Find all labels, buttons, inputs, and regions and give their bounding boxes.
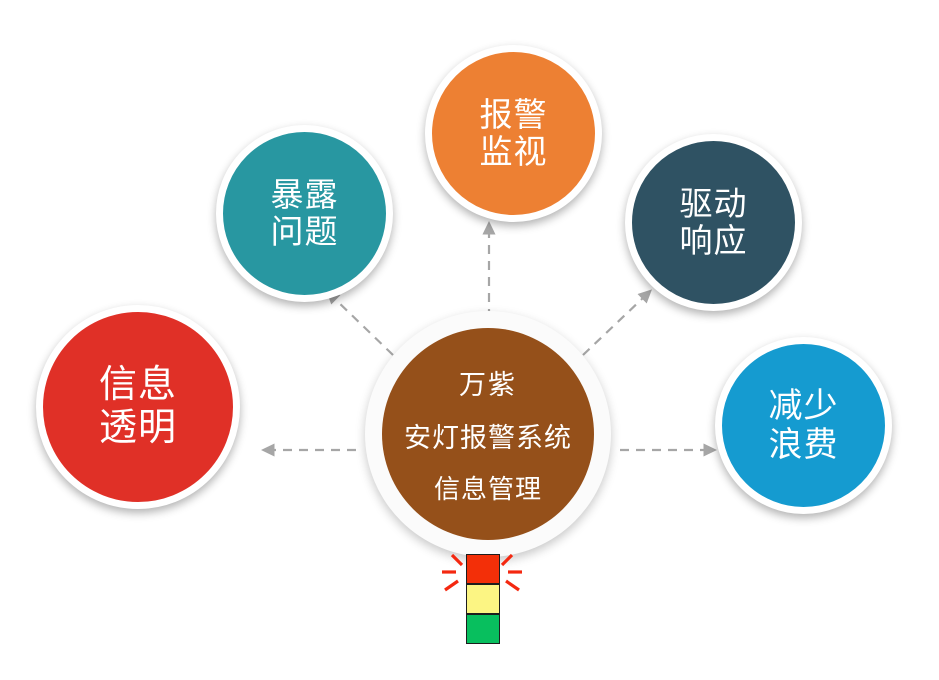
andon-stack-light[interactable]: [466, 554, 500, 646]
andon-red-lamp: [466, 554, 500, 584]
diagram-canvas: 报警 监视 暴露 问题 驱动 响应 信息 透明 减少 浪费 万紫 安灯报警系统 …: [0, 0, 939, 680]
connector-hub-to-drive-response: [583, 297, 644, 355]
center-hub-line2: 安灯报警系统: [404, 416, 572, 455]
node-drive-response-label-line1: 驱动: [680, 186, 748, 223]
node-expose-problems[interactable]: 暴露 问题: [216, 125, 393, 302]
node-reduce-waste[interactable]: 减少 浪费: [715, 337, 892, 514]
node-drive-response[interactable]: 驱动 响应: [625, 134, 802, 311]
andon-yellow-lamp: [466, 584, 500, 614]
node-alarm-monitor-label-line1: 报警: [480, 97, 548, 134]
node-information-transparency-label-line1: 信息: [99, 364, 177, 407]
node-drive-response-label-line2: 响应: [680, 223, 748, 260]
andon-green-lamp: [466, 614, 500, 644]
node-information-transparency[interactable]: 信息 透明: [36, 305, 240, 509]
center-hub-line1: 万紫: [459, 363, 517, 402]
node-alarm-monitor[interactable]: 报警 监视: [425, 45, 602, 222]
center-hub[interactable]: 万紫 安灯报警系统 信息管理: [382, 328, 594, 540]
node-information-transparency-label-line2: 透明: [99, 407, 177, 450]
center-hub-line3: 信息管理: [434, 469, 542, 506]
node-reduce-waste-label-line2: 浪费: [769, 426, 839, 464]
node-alarm-monitor-label-line2: 监视: [480, 134, 548, 171]
node-expose-problems-label-line2: 问题: [271, 214, 339, 251]
node-expose-problems-label-line1: 暴露: [271, 177, 339, 214]
node-reduce-waste-label-line1: 减少: [769, 387, 839, 425]
connector-hub-to-expose-problems: [334, 298, 393, 355]
